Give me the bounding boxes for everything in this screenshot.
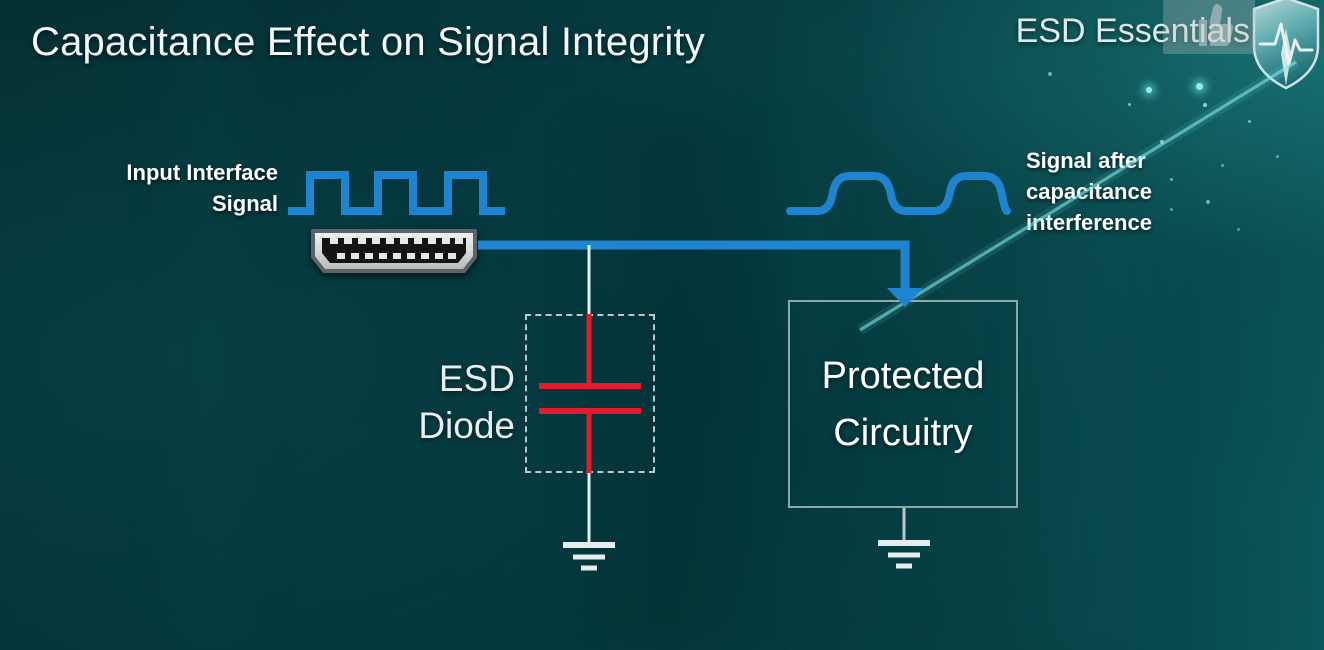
ground-protected: [878, 543, 930, 566]
input-waveform: [288, 175, 505, 211]
circuit-diagram-layer: [0, 0, 1324, 650]
light-streak-glow: [860, 62, 1296, 330]
output-waveform: [790, 176, 1007, 211]
signal-trace: [478, 245, 905, 288]
ground-esd: [563, 545, 615, 568]
slide-canvas: Capacitance Effect on Signal Integrity E…: [0, 0, 1324, 650]
